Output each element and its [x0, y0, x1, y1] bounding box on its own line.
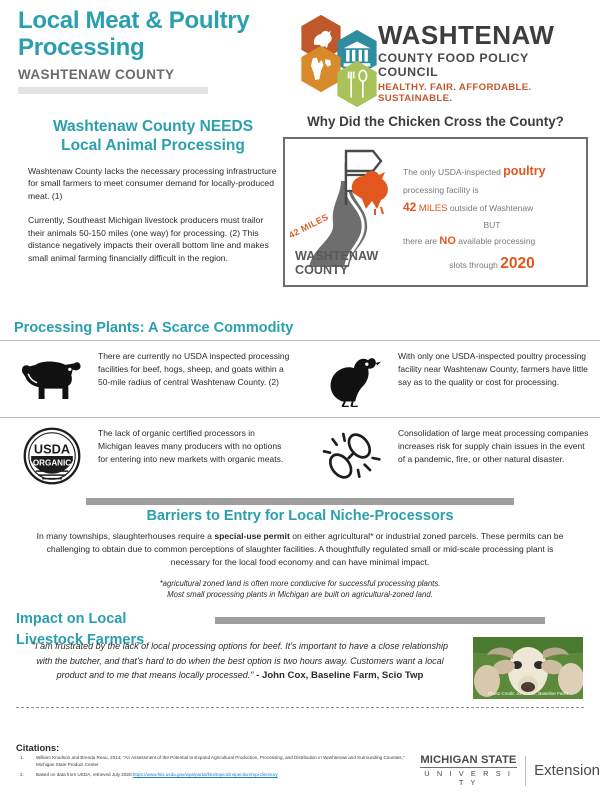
fact-card-chicken: With only one USDA-inspected poultry pro… — [300, 340, 600, 417]
citation-item: 1. William Knudson and Brenda Reau, 2014… — [20, 755, 415, 769]
map-copy-line-b: processing facility is — [403, 183, 581, 198]
citation-item: 2. Based on data from USDA, retrieved Ju… — [20, 772, 415, 779]
county-label: WASHTENAW COUNTY — [295, 249, 378, 277]
processing-plants-heading: Processing Plants: A Scarce Commodity — [14, 320, 600, 336]
footer-dashed-divider — [16, 707, 584, 708]
needs-heading-line1: Washtenaw County NEEDS — [28, 117, 278, 136]
logo-line-1: WASHTENAW — [378, 22, 590, 48]
barriers-heading: Barriers to Entry for Local Niche-Proces… — [0, 508, 600, 524]
citations-title: Citations: — [16, 742, 59, 753]
section-processing-plants: Processing Plants: A Scarce Commodity Th… — [0, 317, 600, 494]
fact-card-usda-organic-text: The lack of organic certified processors… — [98, 425, 290, 466]
logo-tagline: HEALTHY. FAIR. AFFORDABLE. SUSTAINABLE. — [378, 82, 590, 104]
map-copy-miles: MILES — [419, 203, 448, 214]
map-copy-no: NO — [439, 235, 456, 247]
needs-paragraph-1: Washtenaw County lacks the necessary pro… — [28, 165, 278, 203]
fact-card-chicken-text: With only one USDA-inspected poultry pro… — [398, 348, 590, 389]
processing-plants-right-column: With only one USDA-inspected poultry pro… — [300, 340, 600, 494]
msu-wordmark: MICHIGAN STATE U N I V E R S I T Y — [420, 754, 517, 787]
impact-divider-bar — [215, 617, 545, 624]
barriers-footnote: *agricultural zoned land is often more c… — [0, 578, 600, 601]
map-copy-line-d: there are NO available processing — [403, 232, 581, 251]
title-block: Local Meat & Poultry Processing WASHTENA… — [18, 8, 298, 94]
needs-heading-line2: Local Animal Processing — [28, 136, 278, 155]
fact-card-usda-organic: USDA ORGANIC The lack of organic certifi… — [0, 417, 300, 494]
map-copy-slots: slots through — [449, 260, 500, 270]
broken-chain-icon — [306, 425, 398, 487]
page-header: Local Meat & Poultry Processing WASHTENA… — [0, 0, 600, 112]
farmer-quote: "I am frustrated by the lack of local pr… — [30, 639, 450, 683]
page-footer: Citations: 1. William Knudson and Brenda… — [0, 740, 600, 793]
map-copy-42: 42 — [403, 200, 416, 214]
needs-paragraph-2: Currently, Southeast Michigan livestock … — [28, 214, 278, 265]
msu-extension-logo: MICHIGAN STATE U N I V E R S I T Y Exten… — [420, 754, 600, 787]
section-needs: Washtenaw County NEEDS Local Animal Proc… — [0, 112, 600, 317]
needs-body: Washtenaw County lacks the necessary pro… — [28, 165, 278, 265]
barriers-body-bold: special-use permit — [214, 531, 289, 541]
cow-photo — [473, 637, 583, 699]
section-impact: Impact on Local Livestock Farmers "I am … — [0, 609, 600, 714]
map-copy-line-a: The only USDA-inspected poultry — [403, 161, 581, 183]
citation-number: 2. — [20, 772, 36, 779]
map-copy-line-e: slots through 2020 — [403, 251, 581, 278]
barriers-footnote-line2: Most small processing plants in Michigan… — [0, 589, 600, 600]
map-title: Why Did the Chicken Cross the County? — [283, 114, 588, 129]
farmer-quote-attribution: - John Cox, Baseline Farm, Scio Twp — [253, 670, 423, 681]
map-copy-poultry: poultry — [503, 164, 545, 178]
barriers-body: In many townships, slaughterhouses requi… — [26, 530, 574, 569]
citation-text: Based on data from USDA, retrieved July … — [36, 772, 133, 779]
cow-icon — [6, 348, 98, 410]
processing-plants-grid: There are currently no USDA inspected pr… — [0, 340, 600, 494]
processing-plants-heading-wrap: Processing Plants: A Scarce Commodity — [0, 317, 600, 338]
fact-card-broken-chain: Consolidation of large meat processing c… — [300, 417, 600, 494]
county-label-line1: WASHTENAW — [295, 249, 378, 263]
map-copy-available: available processing — [456, 236, 535, 246]
chicken-map-column: Why Did the Chicken Cross the County? — [283, 114, 588, 287]
hex-fork-spoon — [336, 60, 378, 108]
needs-text-column: Washtenaw County NEEDS Local Animal Proc… — [28, 117, 278, 265]
map-callout-box: 42 MILES WASHTENAW COUNTY The only USDA-… — [283, 137, 588, 287]
msu-divider — [525, 756, 526, 786]
page-title: Local Meat & Poultry Processing — [18, 8, 298, 62]
processing-plants-left-column: There are currently no USDA inspected pr… — [0, 340, 300, 494]
map-copy-a-text: The only USDA-inspected — [403, 167, 503, 177]
county-label-line2: COUNTY — [295, 263, 378, 277]
impact-heading-line1: Impact on Local — [16, 609, 216, 630]
fact-card-cow: There are currently no USDA inspected pr… — [0, 340, 300, 417]
svg-text:ORGANIC: ORGANIC — [33, 458, 71, 467]
barriers-divider-bar — [86, 498, 514, 505]
title-underline-bar — [18, 87, 208, 94]
barriers-footnote-line1: *agricultural zoned land is often more c… — [0, 578, 600, 589]
chicken-icon — [306, 348, 398, 410]
page-title-line1: Local Meat & Poultry — [18, 8, 298, 35]
citation-text: William Knudson and Brenda Reau, 2014, "… — [36, 755, 415, 769]
msu-line-1: MICHIGAN STATE — [420, 754, 517, 766]
logo-text-block: WASHTENAW COUNTY FOOD POLICY COUNCIL HEA… — [378, 22, 590, 104]
usda-organic-seal-icon: USDA ORGANIC — [6, 425, 98, 487]
msu-extension-word: Extension — [534, 762, 600, 779]
citations-list: 1. William Knudson and Brenda Reau, 2014… — [20, 755, 415, 782]
infographic-page: Local Meat & Poultry Processing WASHTENA… — [0, 0, 600, 793]
map-copy-year: 2020 — [500, 255, 534, 272]
fact-card-cow-text: There are currently no USDA inspected pr… — [98, 348, 290, 389]
page-title-line2: Processing — [18, 35, 298, 62]
map-copy-line-c: 42 MILES outside of Washtenaw — [403, 197, 581, 218]
map-copy-there-are: there are — [403, 236, 439, 246]
map-callout-copy: The only USDA-inspected poultry processi… — [403, 161, 581, 278]
logo-hex-cluster — [300, 14, 386, 92]
msu-line-2: U N I V E R S I T Y — [420, 769, 517, 787]
map-copy-but: BUT — [403, 218, 581, 233]
section-barriers: Barriers to Entry for Local Niche-Proces… — [0, 498, 600, 600]
citation-number: 1. — [20, 755, 36, 769]
barriers-body-a: In many townships, slaughterhouses requi… — [37, 531, 215, 541]
fact-card-broken-chain-text: Consolidation of large meat processing c… — [398, 425, 590, 466]
page-subtitle: WASHTENAW COUNTY — [18, 67, 298, 82]
msu-rule — [420, 767, 517, 768]
wcfpc-logo: WASHTENAW COUNTY FOOD POLICY COUNCIL HEA… — [300, 14, 590, 94]
photo-credit: Photo Credit: John Cox, Baseline Farm — [473, 691, 583, 696]
citation-link[interactable]: https://www.fsis.usda.gov/wps/portal/fsi… — [133, 772, 278, 779]
map-copy-outside: outside of Washtenaw — [450, 203, 533, 213]
needs-heading: Washtenaw County NEEDS Local Animal Proc… — [28, 117, 278, 156]
logo-line-2: COUNTY FOOD POLICY COUNCIL — [378, 51, 590, 79]
svg-text:USDA: USDA — [34, 442, 70, 457]
